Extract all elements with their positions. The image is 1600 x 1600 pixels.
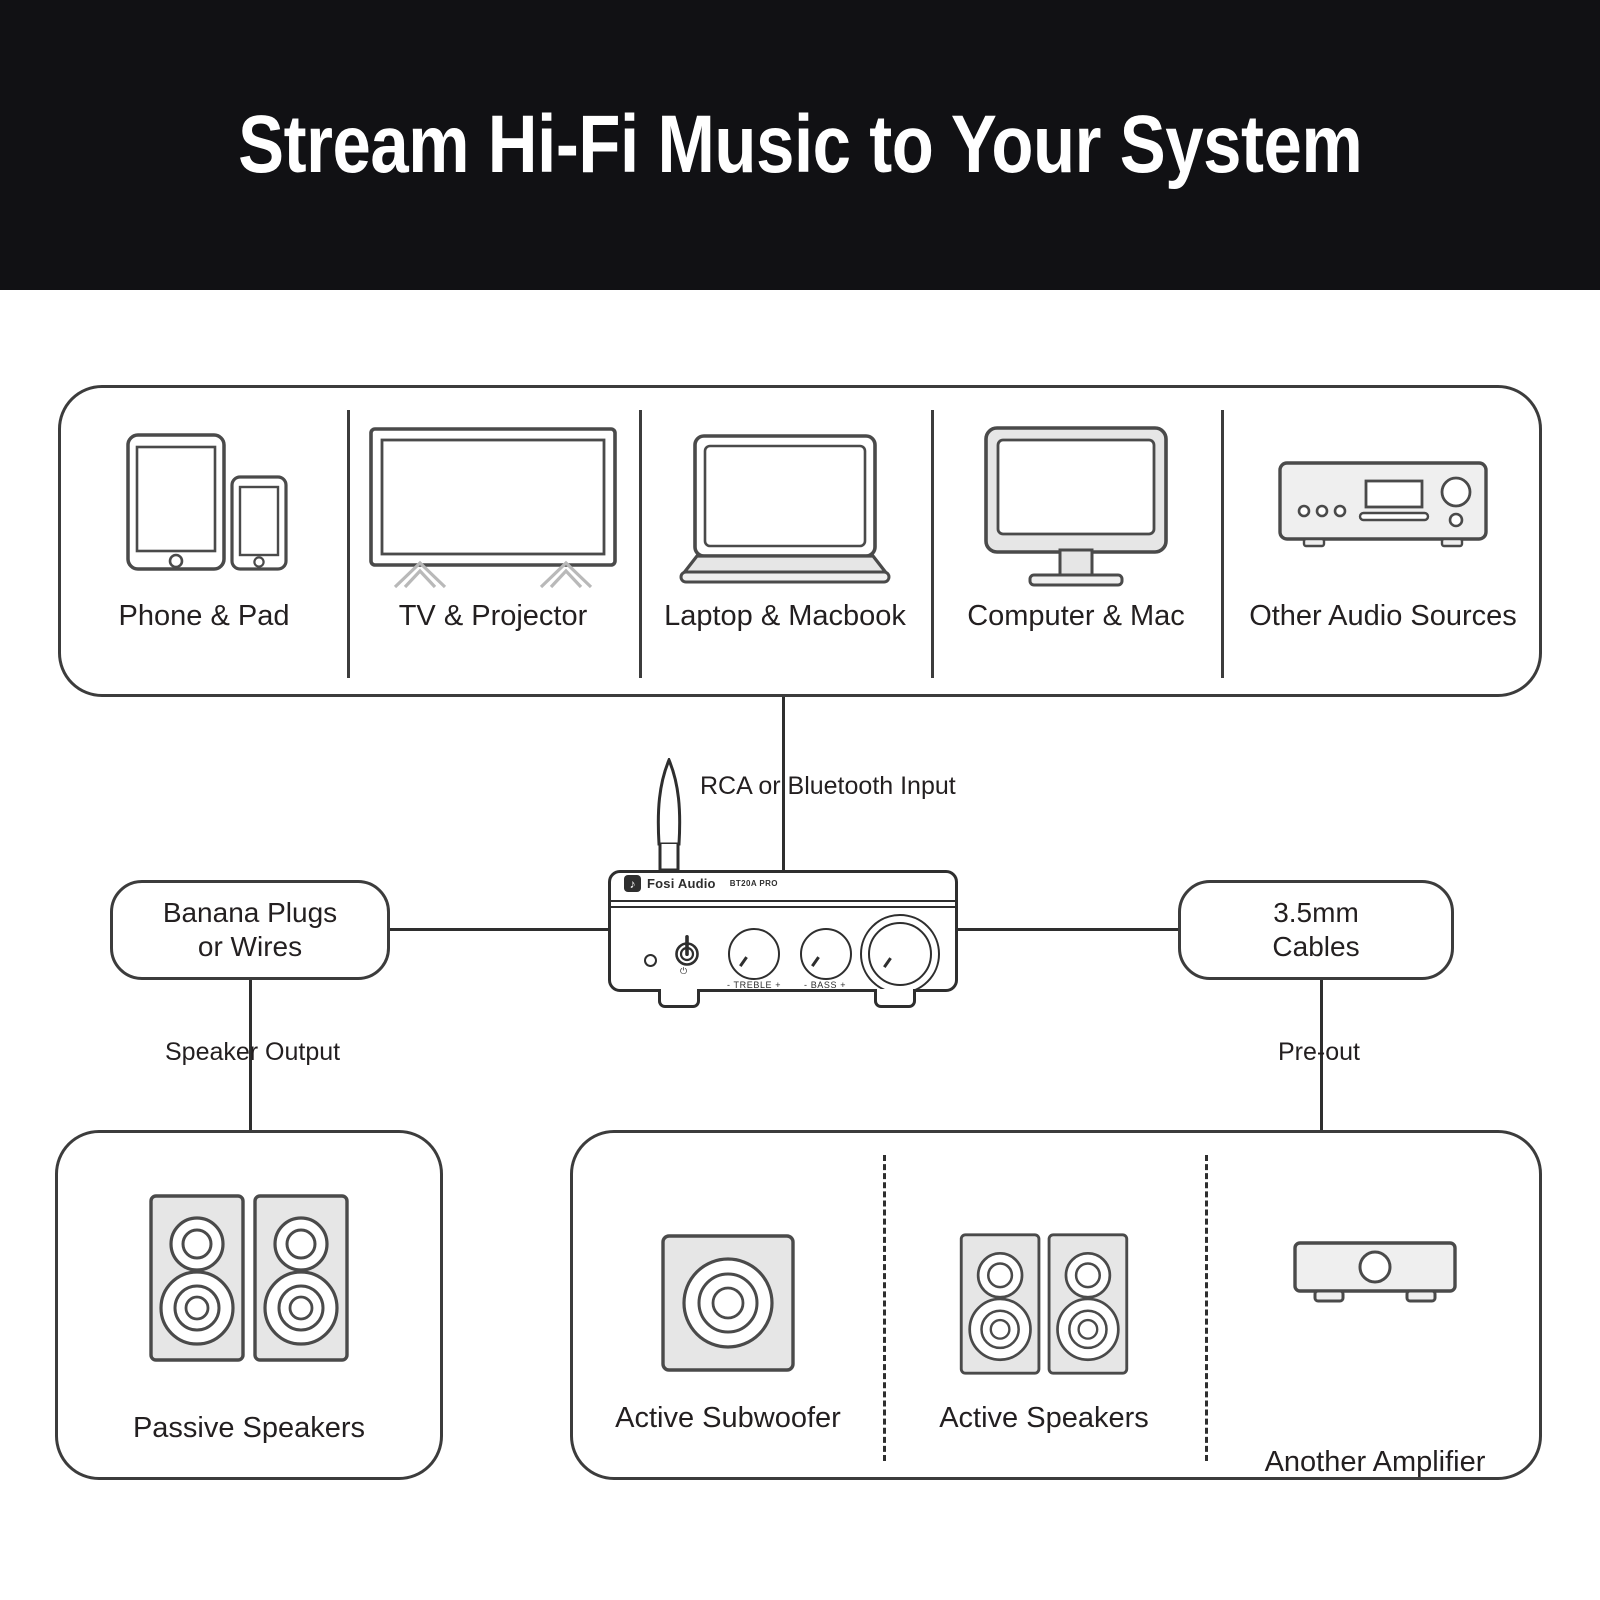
amplifier-foot-right (874, 989, 916, 1008)
power-button-icon[interactable] (674, 932, 700, 968)
source-item-computer-mac[interactable]: Computer & Mac (931, 388, 1221, 700)
output-label: Active Speakers (939, 1402, 1149, 1435)
amplifier-box-icon (1287, 1163, 1463, 1388)
amplifier-foot-left (658, 989, 700, 1008)
audio-sources-panel: Phone & Pad TV & Projector (58, 385, 1542, 697)
source-label: TV & Projector (399, 600, 588, 633)
banana-plugs-text: Banana Plugsor Wires (163, 896, 337, 964)
banana-plugs-box[interactable]: Banana Plugsor Wires (110, 880, 390, 980)
television-icon (363, 410, 623, 596)
amp-to-35mm-line (958, 928, 1180, 931)
passive-speaker-pair-icon (141, 1188, 357, 1368)
input-connector-label: RCA or Bluetooth Input (700, 772, 956, 801)
bass-knob[interactable] (800, 928, 852, 980)
preout-label: Pre-out (1278, 1038, 1360, 1067)
laptop-icon (667, 410, 903, 596)
source-label: Computer & Mac (967, 600, 1185, 633)
amp-to-banana-line (390, 928, 610, 931)
source-label: Laptop & Macbook (664, 600, 906, 633)
output-label: Another Amplifier (1265, 1446, 1486, 1479)
treble-knob-label: - TREBLE + (727, 980, 781, 990)
desktop-monitor-icon (968, 410, 1184, 596)
active-speaker-pair-icon (936, 1163, 1152, 1388)
source-item-tv-projector[interactable]: TV & Projector (347, 388, 639, 700)
source-label: Phone & Pad (119, 600, 290, 633)
bass-knob-label: - BASS + (804, 980, 846, 990)
source-item-laptop[interactable]: Laptop & Macbook (639, 388, 931, 700)
passive-speakers-panel: Passive Speakers (55, 1130, 443, 1480)
title-bar: Stream Hi-Fi Music to Your System (0, 0, 1600, 290)
fosi-audio-amplifier[interactable]: ♪ Fosi Audio BT20A PRO ⏻ - TREBLE + - BA… (608, 870, 958, 1000)
treble-knob[interactable] (728, 928, 780, 980)
aux-cables-text: 3.5mmCables (1272, 896, 1359, 964)
output-devices-panel: Active Subwoofer (570, 1130, 1542, 1480)
amplifier-vent-line-2 (611, 906, 955, 908)
hifi-receiver-icon (1270, 410, 1496, 596)
tablet-and-phone-icon (114, 410, 294, 596)
page-title: Stream Hi-Fi Music to Your System (238, 98, 1362, 192)
subwoofer-icon (653, 1163, 803, 1388)
source-item-other-audio[interactable]: Other Audio Sources (1221, 388, 1545, 700)
speaker-output-label: Speaker Output (165, 1038, 340, 1067)
amplifier-brand-text: Fosi Audio (647, 876, 716, 891)
infographic-canvas: Stream Hi-Fi Music to Your System Phone … (0, 0, 1600, 1600)
treble-knob-indicator (739, 956, 747, 966)
volume-knob[interactable] (868, 922, 932, 986)
amplifier-branding: ♪ Fosi Audio BT20A PRO (624, 875, 778, 892)
amplifier-status-led (644, 954, 657, 967)
amplifier-model-text: BT20A PRO (730, 879, 778, 888)
aux-cables-box[interactable]: 3.5mmCables (1178, 880, 1454, 980)
source-label: Other Audio Sources (1249, 600, 1517, 633)
fosi-note-logo-icon: ♪ (624, 875, 641, 892)
source-item-phone-pad[interactable]: Phone & Pad (61, 388, 347, 700)
amplifier-vent-line-1 (611, 900, 955, 902)
bass-knob-indicator (811, 956, 819, 966)
output-item-another-amplifier[interactable]: Another Amplifier (1205, 1133, 1545, 1483)
output-label: Active Subwoofer (615, 1402, 841, 1435)
output-item-active-speakers[interactable]: Active Speakers (883, 1133, 1205, 1483)
power-symbol-label: ⏻ (680, 966, 687, 977)
volume-knob-indicator (883, 957, 891, 967)
passive-speakers-label: Passive Speakers (133, 1412, 365, 1445)
output-item-subwoofer[interactable]: Active Subwoofer (573, 1133, 883, 1483)
bluetooth-antenna-icon (648, 758, 690, 876)
